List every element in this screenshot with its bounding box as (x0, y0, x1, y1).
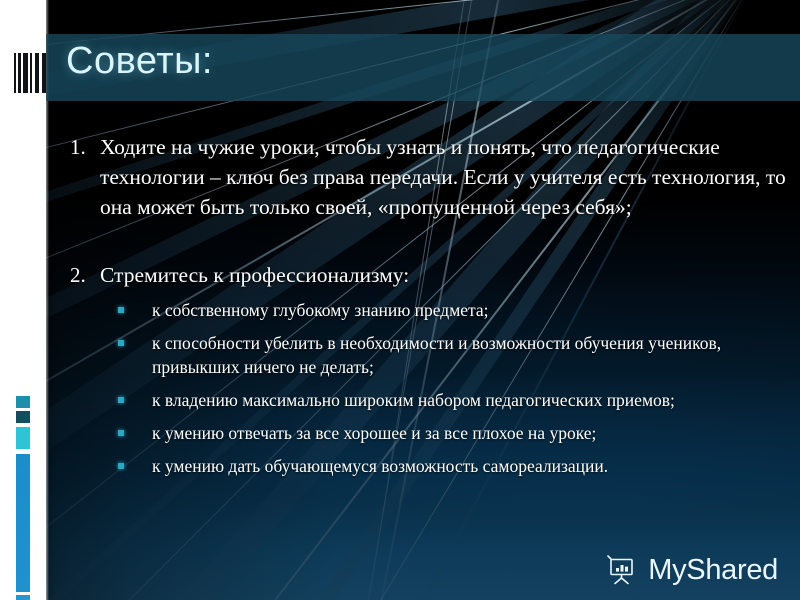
sub-bullet-list: к собственному глубокому знанию предмета… (60, 298, 790, 478)
bullet-icon (118, 463, 124, 469)
list-item-text: к владению максимально широким набором п… (152, 388, 790, 412)
slide-canvas: Советы: 1. Ходите на чужие уроки, чтобы … (0, 0, 800, 600)
list-item: к умению дать обучающемуся возможность с… (118, 454, 790, 478)
list-item: 1. Ходите на чужие уроки, чтобы узнать и… (60, 132, 790, 222)
bullet-icon (118, 397, 124, 403)
list-item-text: к собственному глубокому знанию предмета… (152, 298, 790, 322)
list-item-text: к способности убелить в необходимости и … (152, 331, 790, 379)
barcode-icon (14, 53, 46, 93)
watermark-label: MyShared (648, 556, 778, 585)
list-item: 2. Стремитесь к профессионализму: (60, 260, 790, 290)
slide-title: Советы: (66, 40, 213, 83)
watermark: MyShared (606, 554, 778, 586)
list-item-text: к умению дать обучающемуся возможность с… (152, 454, 790, 478)
list-item: к умению отвечать за все хорошее и за вс… (118, 421, 790, 445)
vertical-bars-icon (16, 396, 30, 600)
bullet-icon (118, 307, 124, 313)
list-item-number: 2. (60, 260, 100, 290)
bullet-icon (118, 430, 124, 436)
slide-body: 1. Ходите на чужие уроки, чтобы узнать и… (60, 132, 790, 487)
list-item-text: к умению отвечать за все хорошее и за вс… (152, 421, 790, 445)
list-item: к способности убелить в необходимости и … (118, 331, 790, 379)
list-item-number: 1. (60, 132, 100, 162)
list-item: к собственному глубокому знанию предмета… (118, 298, 790, 322)
list-item-text: Ходите на чужие уроки, чтобы узнать и по… (100, 132, 790, 222)
bullet-icon (118, 340, 124, 346)
list-item: к владению максимально широким набором п… (118, 388, 790, 412)
presentation-chart-icon (606, 554, 640, 586)
list-item-text: Стремитесь к профессионализму: (100, 260, 790, 290)
